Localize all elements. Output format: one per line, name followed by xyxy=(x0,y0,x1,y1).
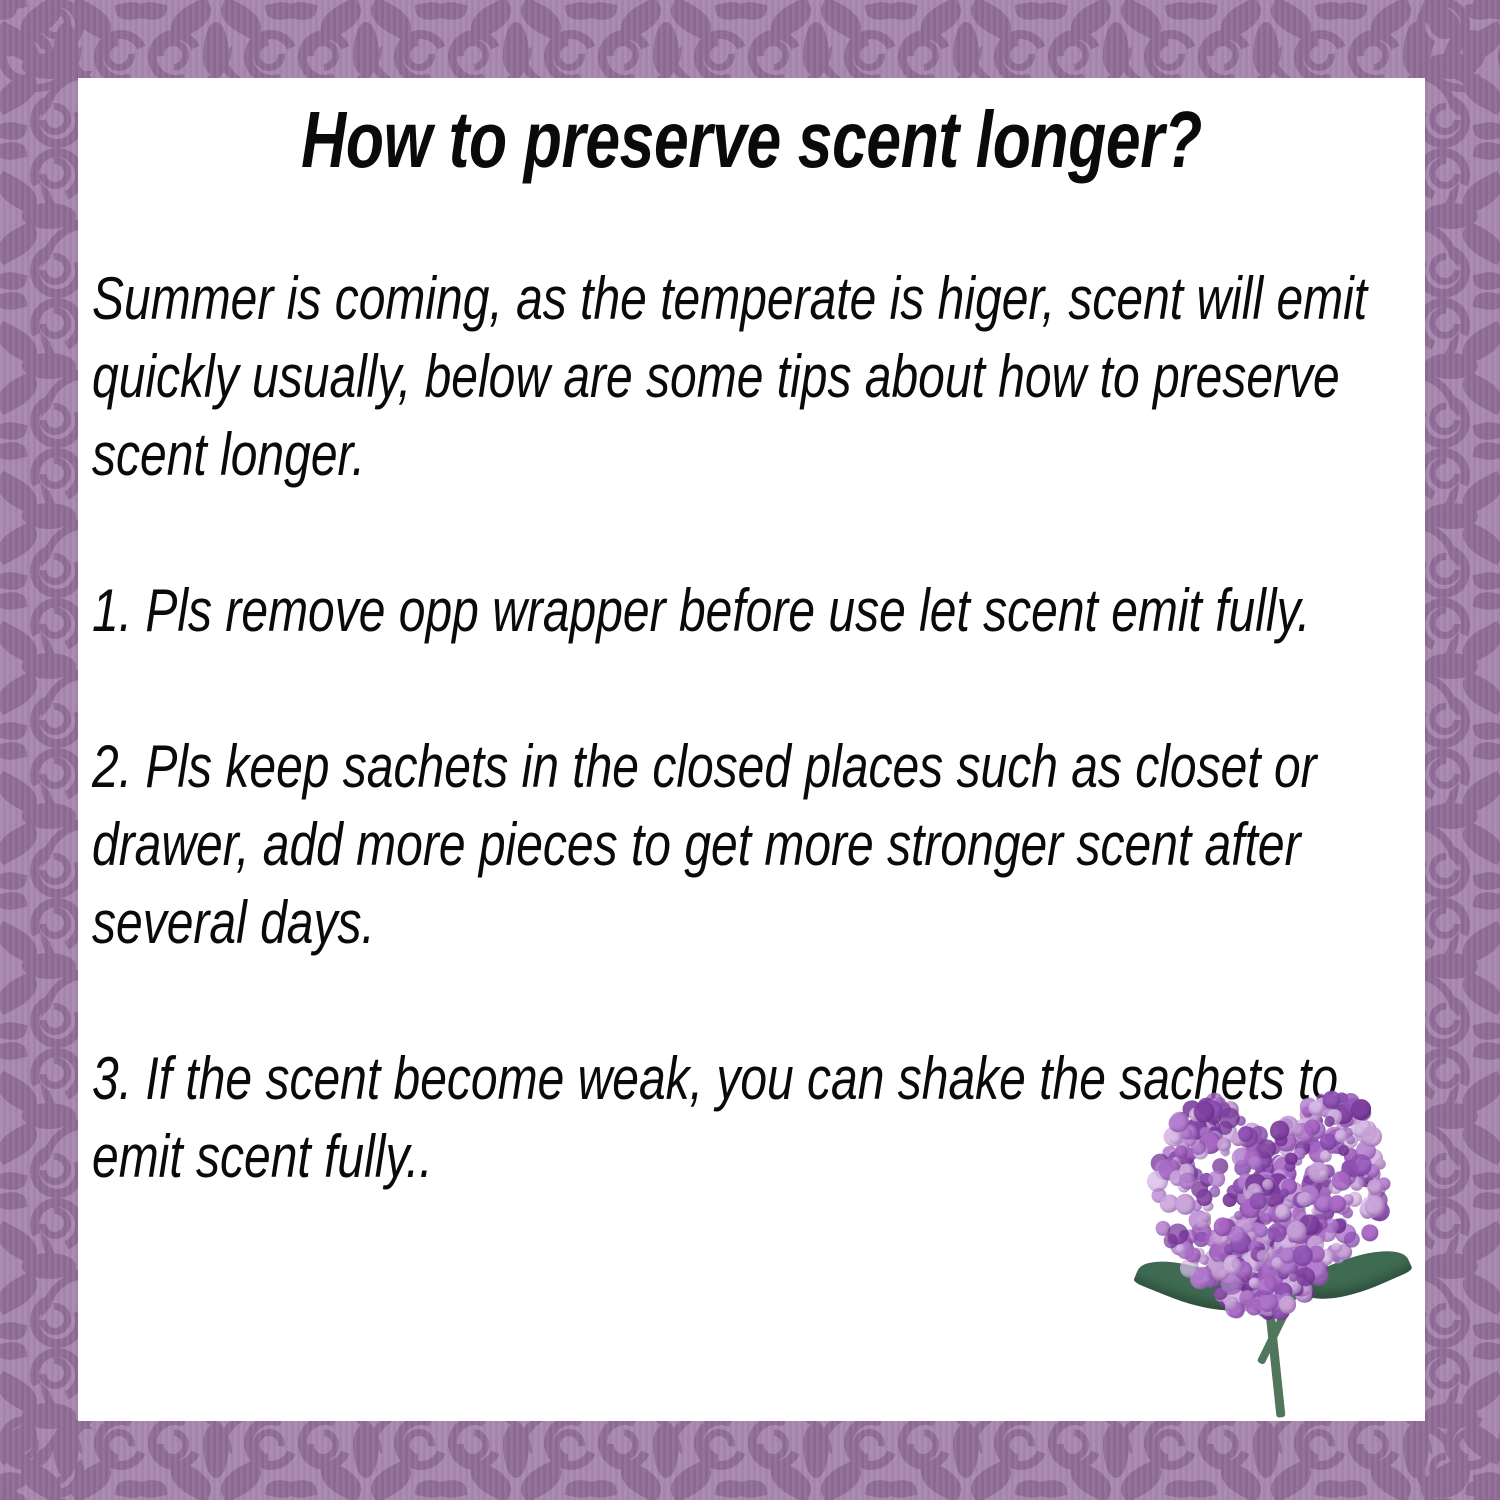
border-motif-tile xyxy=(1040,1420,1190,1500)
border-motif-tile xyxy=(0,1490,80,1500)
border-motif-tile xyxy=(1420,290,1500,440)
border-motif-tile xyxy=(0,590,80,740)
lilac-floret xyxy=(1250,1193,1267,1210)
border-motif-tile xyxy=(1420,0,1500,140)
lilac-floret xyxy=(1275,1204,1291,1220)
border-motif-tile xyxy=(890,1420,1040,1500)
border-motif-tile xyxy=(1420,740,1500,890)
border-band-top xyxy=(0,0,1500,80)
border-motif-tile xyxy=(0,290,80,440)
border-motif-tile xyxy=(140,0,290,80)
border-motif-tile xyxy=(1420,440,1500,590)
lilac-floret xyxy=(1295,1267,1315,1287)
border-motif-tile xyxy=(0,140,80,290)
border-motif-tile xyxy=(590,0,740,80)
border-band-bottom xyxy=(0,1420,1500,1500)
border-motif-tile xyxy=(290,1420,440,1500)
border-motif-tile xyxy=(740,1420,890,1500)
border-motif-tile xyxy=(740,0,890,80)
lilac-cluster xyxy=(1220,1181,1320,1314)
tip-2-paragraph: 2. Pls keep sachets in the closed places… xyxy=(92,728,1425,962)
tip-1-paragraph: 1. Pls remove opp wrapper before use let… xyxy=(92,572,1425,650)
border-motif-tile xyxy=(290,0,440,80)
border-motif-tile xyxy=(1190,0,1340,80)
content-panel: How to preserve scent longer? Summer is … xyxy=(78,78,1425,1421)
border-motif-tile xyxy=(0,740,80,890)
border-motif-tile xyxy=(1420,890,1500,1040)
border-motif-tile xyxy=(1420,1190,1500,1340)
border-motif-tile xyxy=(1420,1040,1500,1190)
border-motif-tile xyxy=(0,890,80,1040)
page-title: How to preserve scent longer? xyxy=(226,100,1277,180)
border-motif-tile xyxy=(590,1420,740,1500)
border-motif-tile xyxy=(440,0,590,80)
border-motif-tile xyxy=(0,440,80,590)
border-motif-tile xyxy=(140,1420,290,1500)
border-motif-tile xyxy=(1420,1340,1500,1490)
body-text: Summer is coming, as the temperate is hi… xyxy=(92,260,1425,1196)
intro-paragraph: Summer is coming, as the temperate is hi… xyxy=(92,260,1425,494)
border-motif-tile xyxy=(0,1040,80,1190)
poster: How to preserve scent longer? Summer is … xyxy=(0,0,1500,1500)
border-band-right xyxy=(1420,0,1500,1500)
lilac-floret xyxy=(1297,1192,1312,1207)
border-motif-tile xyxy=(890,0,1040,80)
border-motif-tile xyxy=(440,1420,590,1500)
border-motif-tile xyxy=(1420,1490,1500,1500)
border-motif-tile xyxy=(1420,140,1500,290)
border-motif-tile xyxy=(1190,1420,1340,1500)
border-motif-tile xyxy=(0,1190,80,1340)
lilac-floret xyxy=(1359,1222,1380,1243)
border-motif-tile xyxy=(1420,590,1500,740)
border-band-left xyxy=(0,0,80,1500)
lilac-floret xyxy=(1279,1296,1297,1314)
lilac-flower-illustration xyxy=(1118,1098,1418,1418)
border-motif-tile xyxy=(1040,0,1190,80)
lilac-floret xyxy=(1262,1179,1273,1190)
border-motif-tile xyxy=(0,0,80,140)
border-motif-tile xyxy=(0,1340,80,1490)
